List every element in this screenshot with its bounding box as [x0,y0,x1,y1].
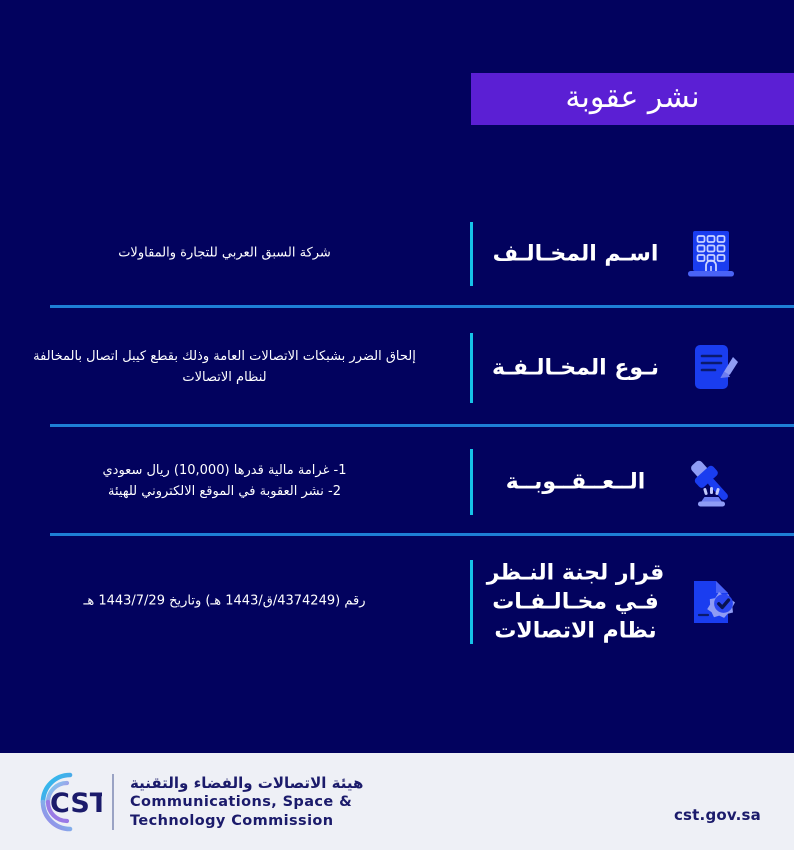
row-value-violator-name: شركة السبق العربي للتجارة والمقاولات [0,244,449,265]
row-value-committee-decision: رقم (4374249/ق/1443 هـ) وتاريخ 1443/7/29… [0,592,449,613]
row-accent-bar [470,333,473,403]
org-name-en-line1: Communications, Space & [130,793,363,812]
row-label-penalty: الــعــقــوبــة [483,467,668,496]
website-url[interactable]: cst.gov.sa [674,806,761,824]
row-accent-bar [470,449,473,515]
value-line: شركة السبق العربي للتجارة والمقاولات [12,244,437,265]
value-line: لنظام الاتصالات [12,368,437,389]
svg-text:CST: CST [50,788,102,819]
row-value-violation-type: إلحاق الضرر بشبكات الاتصالات العامة وذلك… [0,347,449,389]
row-committee-decision: قرار لجنة النـظر فـي مخـالـفـات نظام الا… [0,549,794,655]
page-title-banner: نشر عقوبة [471,73,794,125]
label-line: نـوع المخـالـفـة [492,355,659,380]
label-line: قرار لجنة النـظر [487,560,664,585]
row-divider [50,305,794,308]
label-line: نظام الاتصالات [494,619,656,644]
building-icon [681,224,741,284]
footer: CST هيئة الاتصالات والفضاء والتقنية Comm… [0,753,794,850]
value-line: رقم (4374249/ق/1443 هـ) وتاريخ 1443/7/29… [12,592,437,613]
label-line: فـي مخـالـفـات [492,589,659,614]
row-penalty: الــعــقــوبــة 1- غرامة مالية قدرها (10… [0,440,794,524]
document-pen-icon [681,338,741,398]
value-line: 1- غرامة مالية قدرها (10,000) ريال سعودي [12,461,437,482]
row-accent-bar [470,560,473,644]
penalty-publication-card: نشر عقوبة [0,0,794,850]
row-label-violator-name: اسـم المخـالـف [483,239,668,268]
label-line: اسـم المخـالـف [493,241,659,266]
label-line: الــعــقــوبــة [506,469,646,494]
row-divider [50,424,794,427]
logo-divider [112,774,114,830]
row-violation-type: نـوع المخـالـفـة إلحاق الضرر بشبكات الات… [0,322,794,414]
row-label-violation-type: نـوع المخـالـفـة [483,353,668,382]
page-title: نشر عقوبة [565,83,699,116]
row-value-penalty: 1- غرامة مالية قدرها (10,000) ريال سعودي… [0,461,449,503]
cst-logo-lockup: CST هيئة الاتصالات والفضاء والتقنية Comm… [30,767,363,837]
row-divider [50,533,794,536]
row-label-committee-decision: قرار لجنة النـظر فـي مخـالـفـات نظام الا… [483,558,668,645]
value-line: 2- نشر العقوبة في الموقع الالكتروني للهي… [12,482,437,503]
org-name-en-line2: Technology Commission [130,812,363,831]
org-name-ar: هيئة الاتصالات والفضاء والتقنية [130,773,363,793]
row-accent-bar [470,222,473,286]
value-line: إلحاق الضرر بشبكات الاتصالات العامة وذلك… [12,347,437,368]
row-violator-name: اسـم المخـالـف شركة السبق العربي للتجارة… [0,212,794,296]
decision-check-icon [681,572,741,632]
gavel-icon [681,452,741,512]
cst-logo-mark-icon: CST [30,767,102,837]
